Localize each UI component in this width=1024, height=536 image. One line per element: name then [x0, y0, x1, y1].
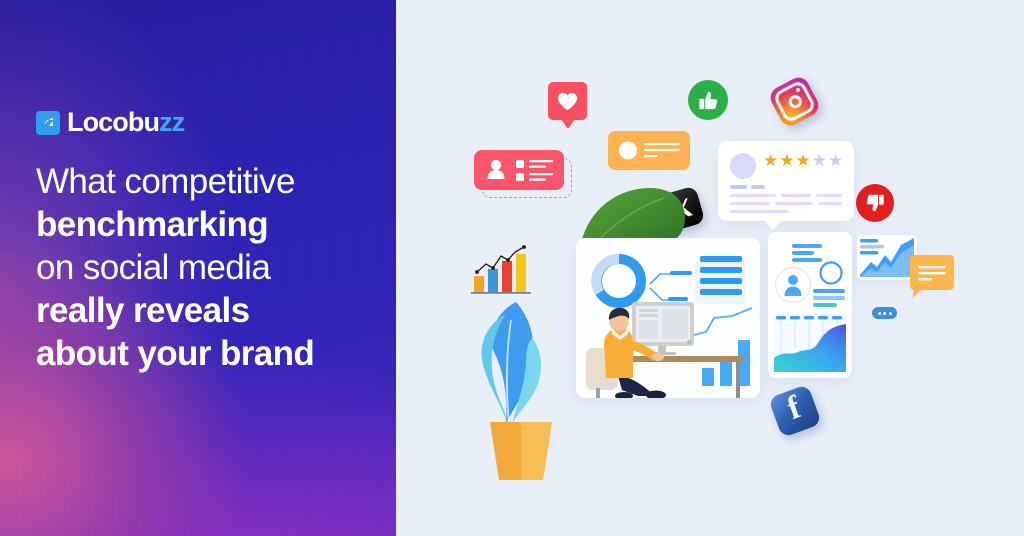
- profile-stat-2: [813, 296, 845, 300]
- profile-line-2: [792, 251, 814, 255]
- profile-avatar-icon: [774, 266, 812, 304]
- profile-circle-outline: [818, 260, 844, 286]
- headline-line-1: What competitive: [36, 160, 386, 203]
- chat-bubble-icon: [910, 255, 954, 290]
- review-meta-line-1: [730, 185, 747, 189]
- review-text-line-6: [818, 202, 842, 205]
- star-empty-5: ★: [828, 152, 843, 169]
- locobuzz-logo[interactable]: Locobuzz: [36, 109, 184, 136]
- instagram-icon[interactable]: [767, 74, 822, 129]
- thumbs-down-icon: [856, 184, 894, 222]
- typing-dots-icon: [872, 307, 897, 319]
- review-text-line-1: [730, 194, 776, 197]
- review-text-line-5: [775, 202, 813, 205]
- dot-3: [889, 312, 892, 315]
- growth-area-chart: [857, 235, 917, 280]
- message-card-icon: [608, 131, 690, 170]
- headline-line-3: on social media: [36, 246, 386, 289]
- illustration-stage: ★ ★ ★ ★ ★: [396, 0, 1024, 536]
- profile-area-chart: [774, 314, 846, 372]
- review-text-line-4: [730, 202, 770, 205]
- growth-chart-card: [857, 235, 917, 280]
- logo-wordmark-accent: zz: [159, 107, 184, 137]
- logo-wordmark-main: Locobu: [67, 107, 159, 137]
- instagram-dot: [795, 87, 800, 92]
- legend-bar-2: [700, 267, 742, 273]
- legend-bar-4: [700, 289, 742, 295]
- dot-2: [883, 312, 886, 315]
- review-text-line-2: [781, 194, 811, 197]
- headline-line-5: about your brand: [36, 332, 386, 375]
- review-meta-line-2: [751, 185, 765, 189]
- profile-stat-3: [813, 303, 837, 307]
- instagram-ring: [772, 79, 817, 124]
- person-at-desk-illustration: [576, 296, 760, 398]
- star-filled-1: ★: [763, 152, 778, 169]
- mini-bar-chart: [470, 244, 536, 296]
- plant-pot-icon: [488, 420, 554, 482]
- dot-1: [878, 312, 881, 315]
- review-avatar: [730, 153, 756, 179]
- profile-card-icon: [474, 150, 564, 190]
- rating-stars: ★ ★ ★ ★ ★: [763, 152, 843, 169]
- profile-line-1: [792, 244, 822, 248]
- heart-bubble-icon: [548, 82, 587, 120]
- facebook-icon[interactable]: f: [768, 384, 822, 438]
- review-card: ★ ★ ★ ★ ★: [718, 141, 854, 221]
- review-text-line-3: [816, 194, 842, 197]
- logo-wordmark: Locobuzz: [67, 109, 184, 136]
- legend-bar-3: [700, 278, 742, 284]
- instagram-lens: [786, 93, 804, 111]
- locobuzz-mark-icon: [36, 111, 60, 135]
- legend-bar-1: [700, 256, 742, 262]
- review-text-line-7: [730, 210, 788, 213]
- star-empty-4: ★: [812, 152, 827, 169]
- headline-line-4: really reveals: [36, 289, 386, 332]
- marketing-banner: Locobuzz What competitive benchmarking o…: [0, 0, 1024, 536]
- plant-foliage-icon: [478, 298, 558, 428]
- star-filled-2: ★: [779, 152, 794, 169]
- thumbs-up-icon: [688, 80, 728, 120]
- headline-line-2: benchmarking: [36, 203, 386, 246]
- analytics-dashboard-card: [576, 238, 760, 398]
- profile-analytics-card: [768, 232, 852, 378]
- page-title: What competitive benchmarking on social …: [36, 160, 386, 375]
- star-filled-3: ★: [796, 152, 811, 169]
- profile-stat-1: [813, 289, 845, 293]
